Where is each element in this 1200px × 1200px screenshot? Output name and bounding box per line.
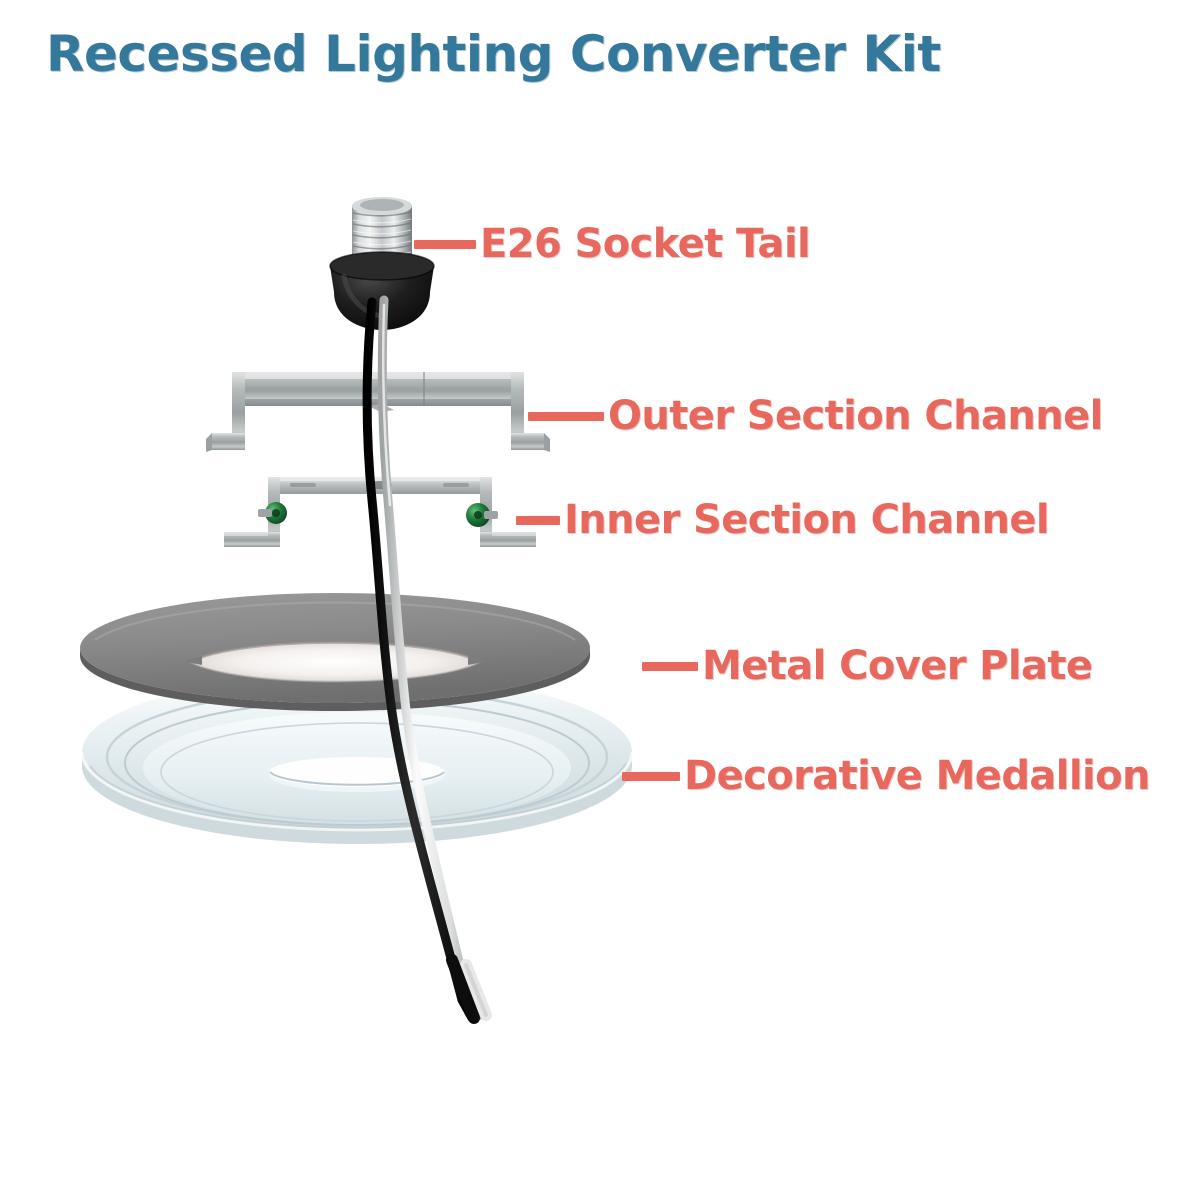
callout-label-inner-section-channel: Inner Section Channel <box>560 500 1049 540</box>
green-screw-right <box>466 503 498 527</box>
callout-metal-cover-plate: Metal Cover Plate <box>642 646 1092 686</box>
callout-label-metal-cover-plate: Metal Cover Plate <box>698 646 1092 686</box>
leader-line-icon <box>642 662 698 671</box>
leader-line-icon <box>528 412 604 421</box>
part-metal-cover-plate <box>80 593 590 711</box>
part-inner-section-channel <box>224 477 536 547</box>
product-exploded-image <box>0 0 1200 1200</box>
callout-decorative-medallion: Decorative Medallion <box>622 756 1150 796</box>
callout-label-outer-section-channel: Outer Section Channel <box>604 396 1103 436</box>
callout-e26-socket-tail: E26 Socket Tail <box>414 224 810 264</box>
callout-inner-section-channel: Inner Section Channel <box>516 500 1049 540</box>
leader-line-icon <box>622 772 680 781</box>
leader-line-icon <box>516 516 560 525</box>
callout-outer-section-channel: Outer Section Channel <box>528 396 1103 436</box>
product-diagram-page: Recessed Lighting Converter Kit <box>0 0 1200 1200</box>
leader-line-icon <box>414 240 476 249</box>
callout-label-e26-socket-tail: E26 Socket Tail <box>476 224 810 264</box>
green-screw-left <box>258 502 287 524</box>
callout-label-decorative-medallion: Decorative Medallion <box>680 756 1150 796</box>
